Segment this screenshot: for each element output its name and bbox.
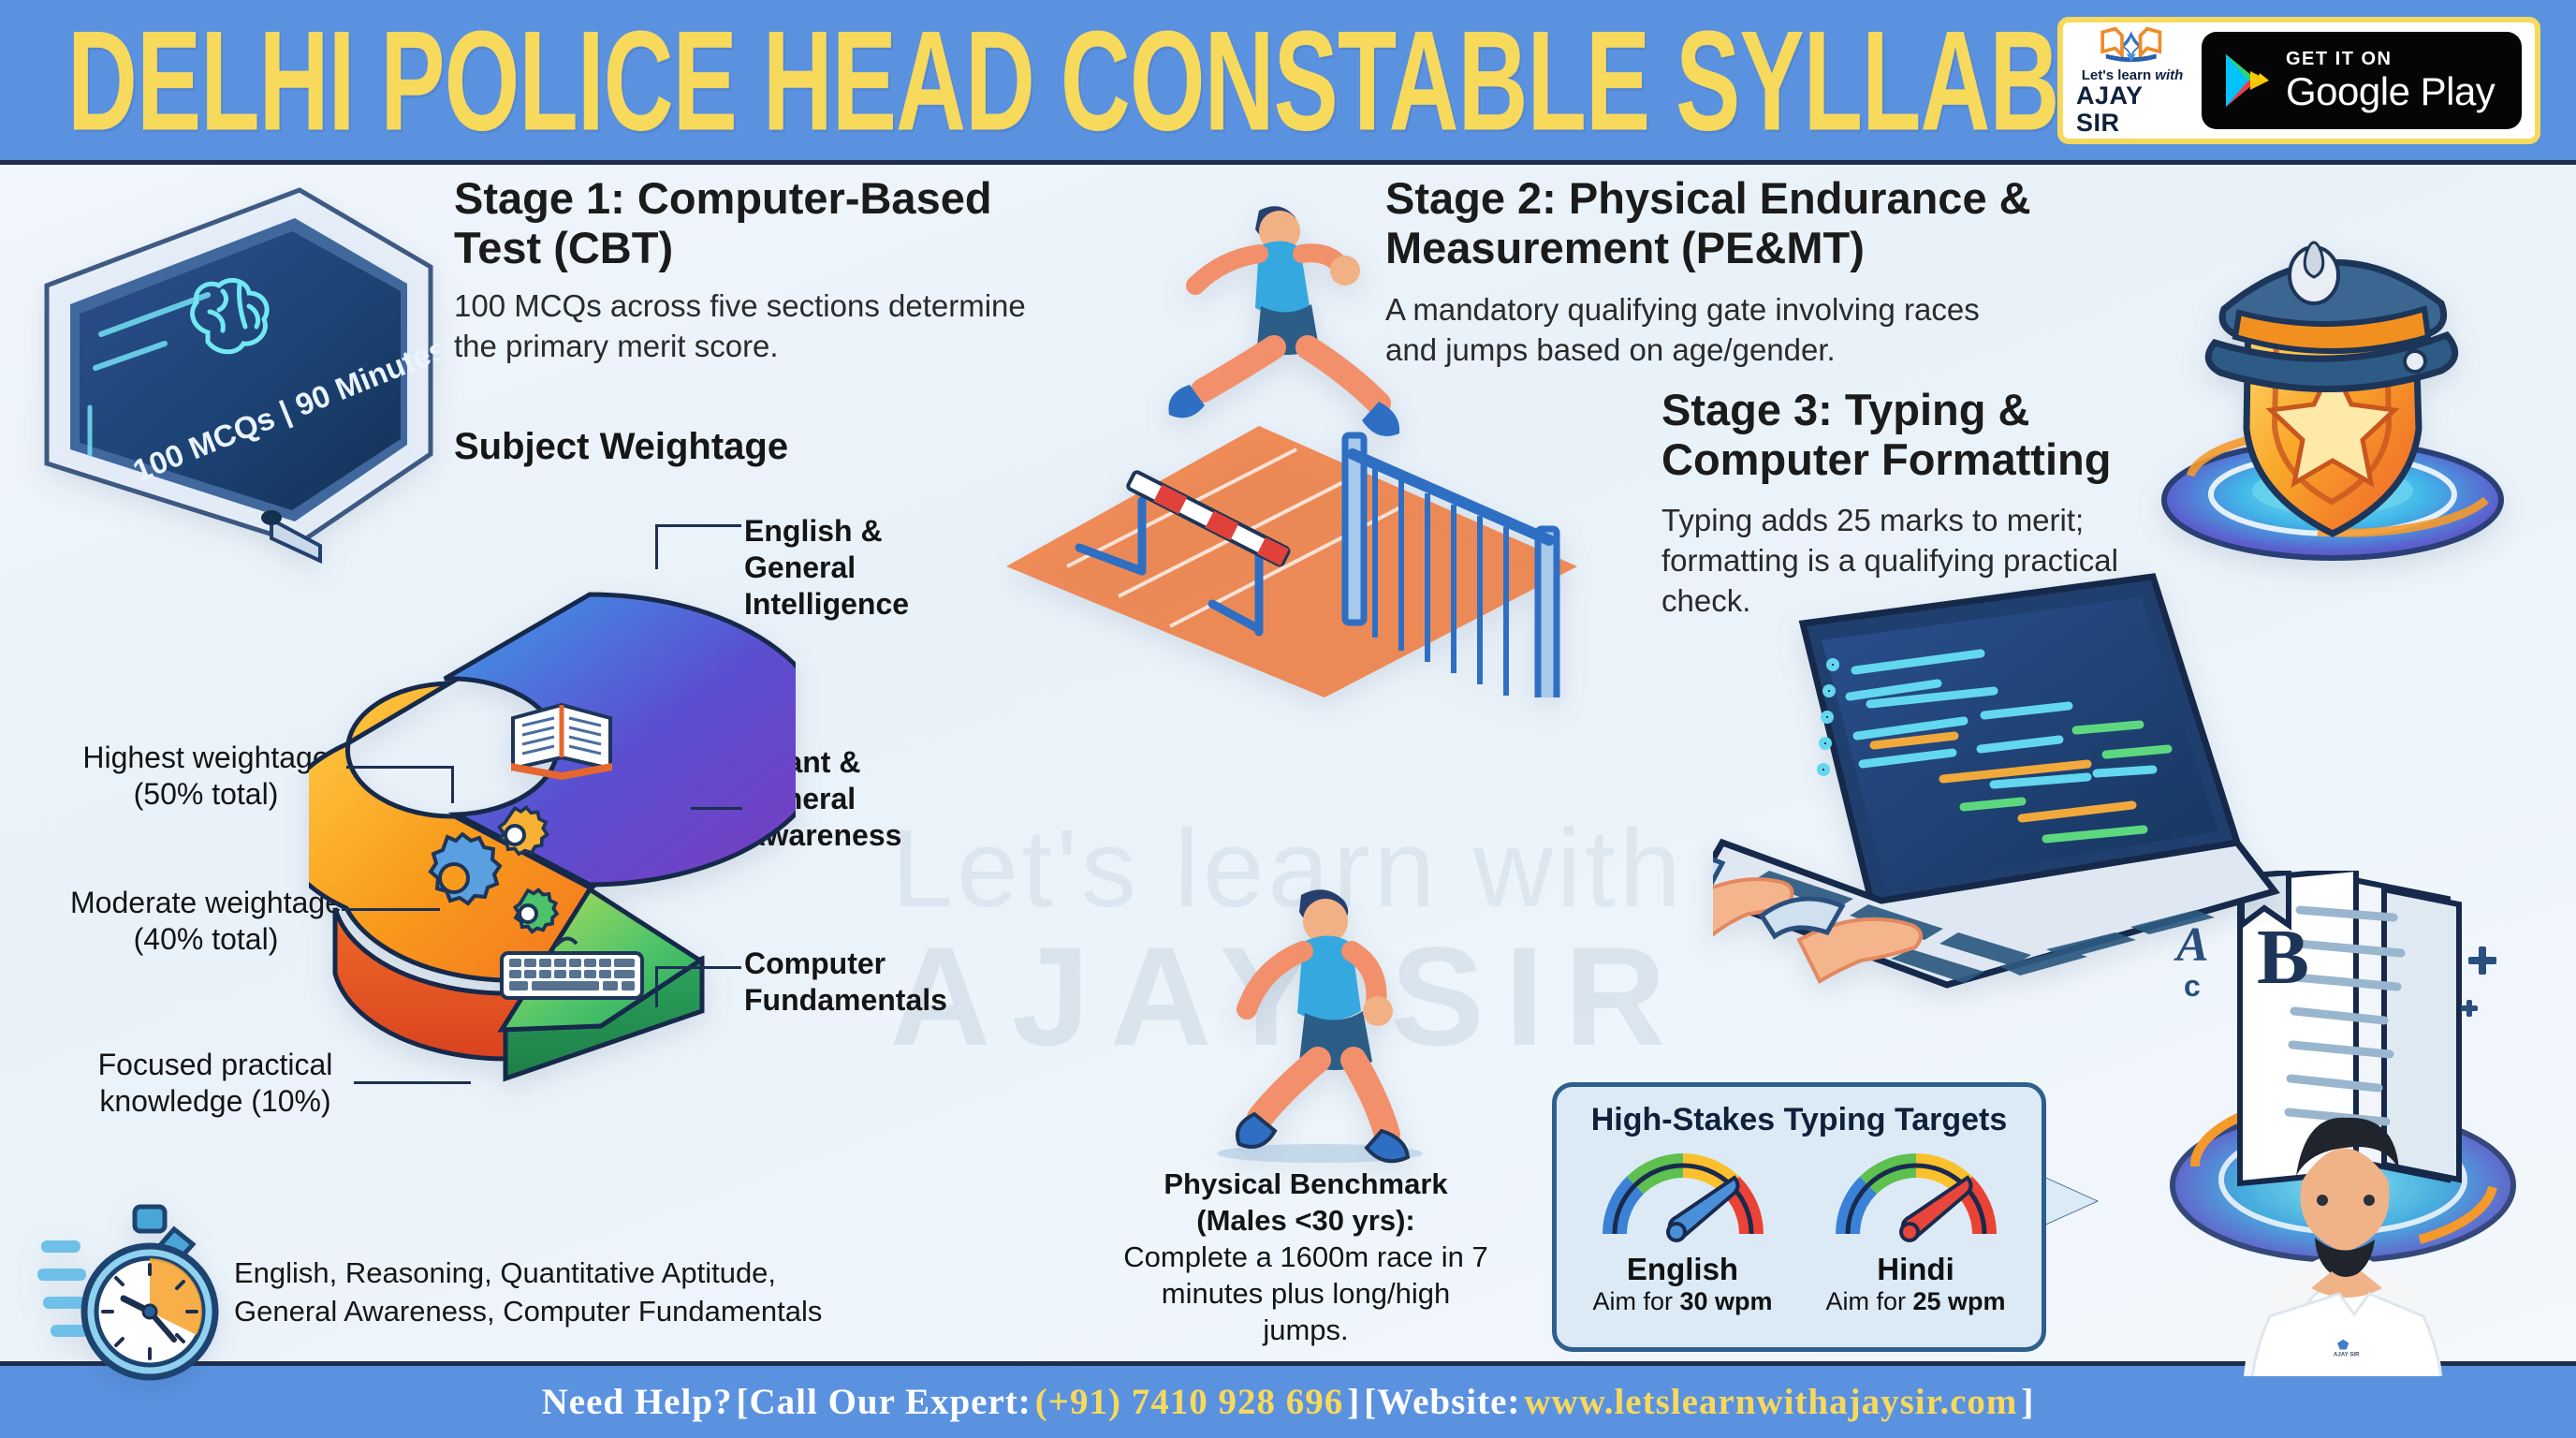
- google-play-small-label: GET IT ON: [2286, 50, 2495, 68]
- typing-card-heading: High-Stakes Typing Targets: [1566, 1102, 2032, 1138]
- gauge-hindi-aim: Aim for 25 wpm: [1808, 1287, 2024, 1316]
- brand-tagline: Let's learn with: [2082, 68, 2184, 82]
- footer-website[interactable]: www.letslearnwithajaysir.com: [1524, 1381, 2017, 1423]
- gauge-english-aim: Aim for 30 wpm: [1575, 1287, 1791, 1316]
- subject-weightage-pie-chart: [309, 506, 796, 1180]
- leader-computer: [655, 966, 741, 969]
- leader-highest: [346, 766, 451, 769]
- physical-benchmark-caption: Physical Benchmark (Males <30 yrs): Comp…: [1119, 1166, 1493, 1348]
- google-play-big-label: Google Play: [2286, 72, 2495, 111]
- open-book-logo-icon: [2076, 25, 2188, 67]
- gauge-hindi-name: Hindi: [1808, 1252, 2024, 1287]
- footer-phone[interactable]: (+91) 7410 928 696: [1035, 1381, 1343, 1423]
- footer-need-help: Need Help?: [542, 1381, 733, 1423]
- leader-english: [655, 524, 741, 527]
- gauge-english-name: English: [1575, 1252, 1791, 1287]
- leader-english-v: [655, 524, 658, 569]
- speedometer-english-icon: [1594, 1144, 1772, 1245]
- svg-text:AJAY SIR: AJAY SIR: [2334, 1351, 2360, 1357]
- police-badge-illustration: [2134, 167, 2527, 588]
- infographic-page: Let's learn with AJAY SIR DELHI POLICE H…: [0, 0, 2576, 1438]
- physical-benchmark-body: Complete a 1600m race in 7 minutes plus …: [1119, 1239, 1493, 1348]
- callout-tail: [2039, 1175, 2097, 1227]
- footer-call-close: ]: [1347, 1381, 1360, 1423]
- header-bar: DELHI POLICE HEAD CONSTABLE SYLLABUS Let…: [0, 0, 2576, 165]
- page-title: DELHI POLICE HEAD CONSTABLE SYLLABUS: [67, 0, 2192, 163]
- ajay-sir-logo: Let's learn with AJAY SIR: [2076, 25, 2188, 136]
- footer-web-open: [Website:: [1364, 1381, 1520, 1423]
- physical-benchmark-heading: Physical Benchmark (Males <30 yrs):: [1119, 1166, 1493, 1239]
- laptop-typing-illustration: [1713, 562, 2293, 1049]
- hurdler-athlete-icon: [1168, 206, 1399, 436]
- runner-illustration: [1142, 880, 1498, 1170]
- leader-moderate: [342, 908, 440, 911]
- google-play-button[interactable]: GET IT ON Google Play: [2202, 32, 2522, 129]
- brand-badge[interactable]: Let's learn with AJAY SIR GET IT O: [2057, 17, 2540, 144]
- footer-web-close: ]: [2021, 1381, 2034, 1423]
- google-play-icon: [2222, 52, 2271, 109]
- subject-weightage-heading: Subject Weightage: [454, 426, 788, 468]
- subject-list-line2: General Awareness, Computer Fundamentals: [234, 1293, 889, 1331]
- stage1-title: Stage 1: Computer-Based Test (CBT): [454, 174, 1053, 272]
- speedometer-hindi-icon: [1827, 1144, 2005, 1245]
- gauge-english: English Aim for 30 wpm: [1575, 1144, 1791, 1316]
- hurdle-track-illustration: [978, 173, 1615, 697]
- footer-call-open: [Call Our Expert:: [737, 1381, 1032, 1423]
- leader-highest-v: [451, 766, 454, 803]
- leader-focused: [354, 1081, 471, 1084]
- cbt-subject-list: English, Reasoning, Quantitative Aptitud…: [234, 1255, 889, 1331]
- leader-computer-v: [655, 966, 658, 1007]
- stage1-body: 100 MCQs across five sections determine …: [454, 286, 1034, 367]
- subject-list-line1: English, Reasoning, Quantitative Aptitud…: [234, 1255, 889, 1293]
- typing-targets-card: High-Stakes Typing Targets English: [1552, 1082, 2046, 1352]
- leader-quant: [691, 807, 742, 810]
- stage3-title: Stage 3: Typing & Computer Formatting: [1661, 386, 2186, 484]
- stopwatch-icon: [37, 1203, 234, 1390]
- brand-name: AJAY SIR: [2076, 82, 2188, 136]
- gauge-hindi: Hindi Aim for 25 wpm: [1808, 1144, 2024, 1316]
